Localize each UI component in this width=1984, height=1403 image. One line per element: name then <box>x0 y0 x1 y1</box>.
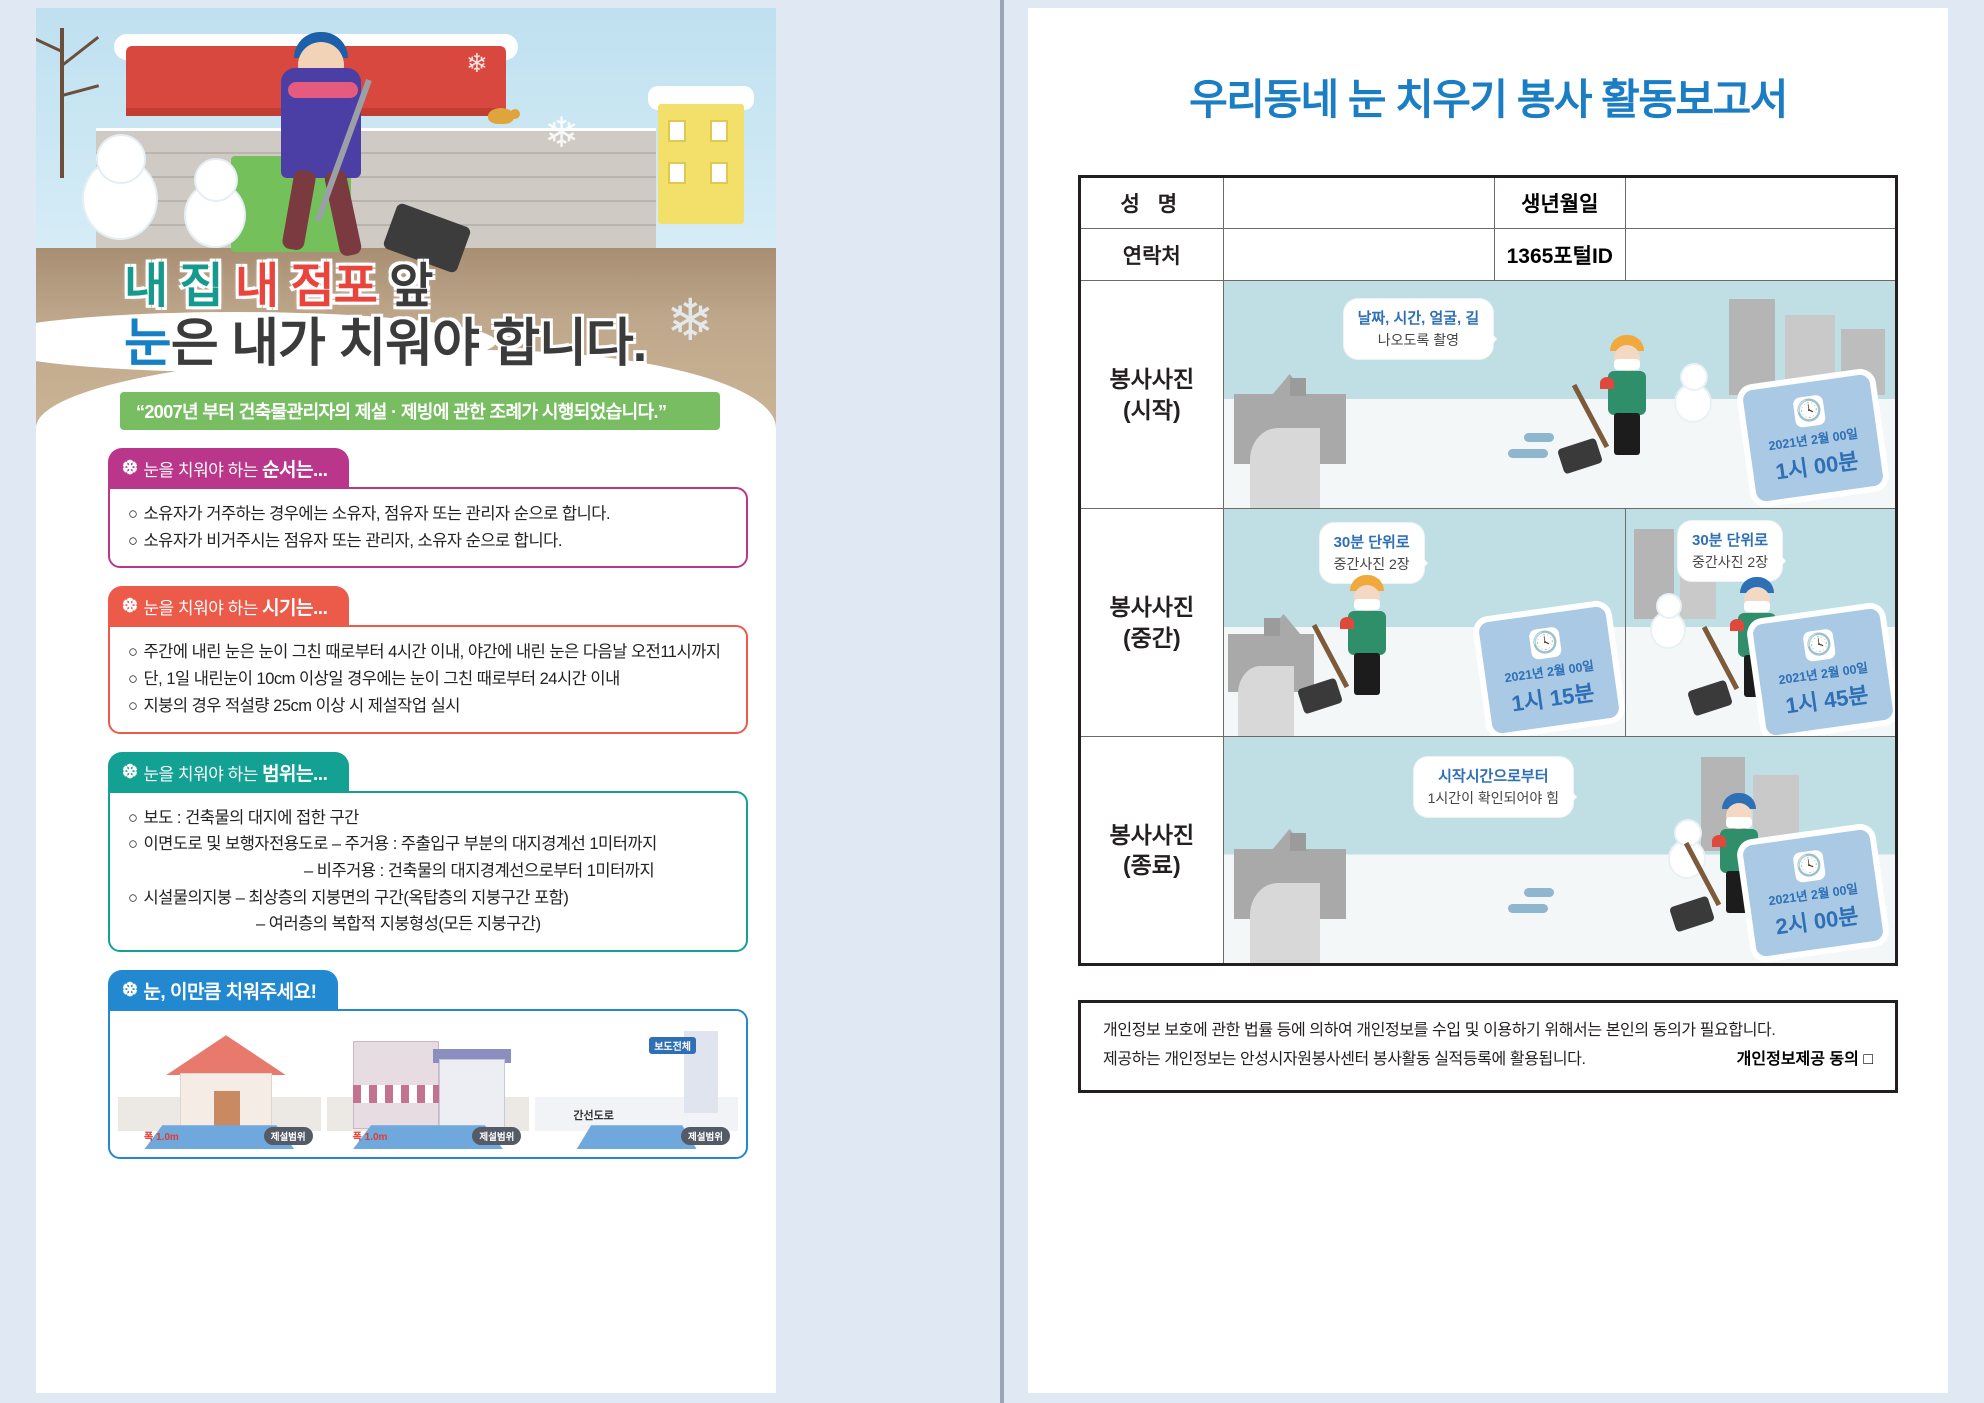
form-title: 우리동네 눈 치우기 봉사 활동보고서 <box>1028 66 1948 127</box>
timestamp-card-middle-1: 🕓 2021년 2월 00일 1시 15분 <box>1478 606 1620 735</box>
section-scope-head-bold: 범위는... <box>262 764 327 785</box>
snowflake-icon: ❆ <box>122 979 137 1002</box>
snowman-head-illustration <box>1658 595 1680 617</box>
snowman-illustration <box>1652 613 1684 647</box>
consent-line-2: 제공하는 개인정보는 안성시자원봉사센터 봉사활동 실적등록에 활용됩니다. <box>1103 1046 1586 1074</box>
snowflake-icon: ❆ <box>122 595 137 618</box>
section-order: ❆ 눈을 치워야 하는 순서는... ○소유자가 거주하는 경우에는 소유자, … <box>108 448 748 568</box>
clock-icon: 🕓 <box>1792 849 1826 883</box>
section-scope-header: ❆ 눈을 치워야 하는 범위는... <box>108 752 349 793</box>
section-scope-head-plain: 눈을 치워야 하는 <box>143 765 262 784</box>
width-label: 폭 1.0m <box>353 1128 388 1143</box>
section-scope-body: ○보도 : 건축물의 대지에 접한 구간 ○이면도로 및 보행자전용도로 – 주… <box>108 791 748 953</box>
label-contact: 연락처 <box>1080 229 1224 281</box>
document-spread: ❄ ❄ ❄ 내 집 내 점포 앞 눈은 내가 치워야 합니다. “2007년 부… <box>0 0 1984 1403</box>
sidewalk-label: 보도전체 <box>649 1037 696 1054</box>
photo-cell-middle-1[interactable]: 30분 단위로 중간사진 2장 🕓 2021년 2월 00일 1시 15분 <box>1223 509 1625 737</box>
photo-hint-bubble-start: 날짜, 시간, 얼굴, 길 나오도록 촬영 <box>1344 299 1494 359</box>
photo-hint-bubble-middle-2: 30분 단위로 중간사진 2장 <box>1678 521 1782 581</box>
section-timing-head-bold: 시기는... <box>262 598 327 619</box>
snowman-large-head-illustration <box>98 136 144 182</box>
scene-end: 시작시간으로부터 1시간이 확인되어야 힘 🕓 2021년 2월 0 <box>1224 737 1895 963</box>
clock-icon: 🕓 <box>1528 626 1562 660</box>
photo-cell-start[interactable]: 날짜, 시간, 얼굴, 길 나오도록 촬영 🕓 2021년 2월 0 <box>1223 281 1896 509</box>
section-howmuch-header: ❆ 눈, 이만큼 치워주세요! <box>108 970 338 1011</box>
title-part-front: 앞 <box>389 260 432 313</box>
snowman-illustration <box>1676 385 1710 421</box>
snowflake-decoration-icon: ❄ <box>544 108 579 157</box>
photo-cell-middle-2[interactable]: 30분 단위로 중간사진 2장 🕓 2021년 2월 00일 <box>1626 509 1897 737</box>
table-row-photo-end: 봉사사진 (종료) 시작시간으로부터 1시간이 확인되어야 <box>1080 737 1897 965</box>
scene-middle-2: 30분 단위로 중간사진 2장 🕓 2021년 2월 00일 <box>1626 509 1895 736</box>
page-gutter <box>1000 0 1004 1403</box>
consent-line-1: 개인정보 보호에 관한 법률 등에 의하여 개인정보를 수입 및 이용하기 위해… <box>1103 1017 1873 1045</box>
poster-title-line2: 눈은 내가 치워야 합니다. <box>124 315 776 375</box>
illustration-house: 폭 1.0m 제설범위 <box>118 1019 321 1149</box>
section-timing: ❆ 눈을 치워야 하는 시기는... ○주간에 내린 눈은 눈이 그친 때로부터… <box>108 586 748 733</box>
privacy-consent-box: 개인정보 보호에 관한 법률 등에 의하여 개인정보를 수입 및 이용하기 위해… <box>1078 1000 1898 1093</box>
timestamp-card-end: 🕓 2021년 2월 00일 2시 00분 <box>1742 829 1884 958</box>
report-form-page: 우리동네 눈 치우기 봉사 활동보고서 성 명 생년월일 연락처 1365포털I… <box>1028 8 1948 1393</box>
snowflake-icon: ❆ <box>122 457 137 480</box>
list-item: – 비주거용 : 건축물의 대지경계선으로부터 1미터까지 <box>128 858 732 885</box>
poster-page: ❄ ❄ ❄ 내 집 내 점포 앞 눈은 내가 치워야 합니다. “2007년 부… <box>36 8 776 1393</box>
poster-sections: ❆ 눈을 치워야 하는 순서는... ○소유자가 거주하는 경우에는 소유자, … <box>108 448 748 1177</box>
photo-hint-bubble-end: 시작시간으로부터 1시간이 확인되어야 힘 <box>1414 757 1574 817</box>
consent-agree-label: 개인정보제공 동의 <box>1737 1051 1859 1068</box>
list-item: ○지붕의 경우 적설량 25cm 이상 시 제설작업 실시 <box>128 693 732 720</box>
field-portal-id[interactable] <box>1626 229 1897 281</box>
section-howmuch-body: 폭 1.0m 제설범위 폭 1.0m 제설범위 <box>108 1009 748 1159</box>
list-item: ○시설물의지붕 – 최상층의 지붕면의 구간(옥탑층의 지붕구간 포함) <box>128 885 732 912</box>
list-item: ○이면도로 및 보행자전용도로 – 주거용 : 주출입구 부분의 대지경계선 1… <box>128 831 732 858</box>
poster-title-line1: 내 집 내 점포 앞 <box>124 263 776 311</box>
section-order-head-plain: 눈을 치워야 하는 <box>143 461 262 480</box>
illustration-street: 간선도로 보도전체 제설범위 <box>535 1019 738 1149</box>
section-order-header: ❆ 눈을 치워야 하는 순서는... <box>108 448 349 489</box>
list-item: – 여러층의 복합적 지붕형성(모든 지붕구간) <box>128 911 732 938</box>
list-item: ○소유자가 거주하는 경우에는 소유자, 점유자 또는 관리자 순으로 합니다. <box>128 501 732 528</box>
arterial-road-label: 간선도로 <box>573 1107 613 1123</box>
snowflake-icon: ❆ <box>122 761 137 784</box>
table-row-photo-middle: 봉사사진 (중간) 30분 단위로 중간사진 2장 <box>1080 509 1897 737</box>
table-row-contact: 연락처 1365포털ID <box>1080 229 1897 281</box>
field-name[interactable] <box>1223 177 1494 229</box>
snowflake-decoration-icon: ❄ <box>466 48 488 79</box>
label-birthdate: 생년월일 <box>1494 177 1625 229</box>
title-part-myshop: 내 점포 <box>235 260 377 313</box>
list-item: ○단, 1일 내린눈이 10cm 이상일 경우에는 눈이 그친 때로부터 24시… <box>128 666 732 693</box>
list-item: ○주간에 내린 눈은 눈이 그친 때로부터 4시간 이내, 야간에 내린 눈은 … <box>128 639 732 666</box>
title-part-snow: 눈 <box>124 315 171 373</box>
photo-cell-end[interactable]: 시작시간으로부터 1시간이 확인되어야 힘 🕓 2021년 2월 0 <box>1223 737 1896 965</box>
table-row-name: 성 명 생년월일 <box>1080 177 1897 229</box>
table-row-photo-start: 봉사사진 (시작) 날짜, 시간, 얼굴, 길 <box>1080 281 1897 509</box>
yellow-house-illustration <box>658 104 744 224</box>
section-howmuch: ❆ 눈, 이만큼 치워주세요! 폭 1.0m 제설범위 <box>108 970 748 1159</box>
snow-clearing-illustrations: 폭 1.0m 제설범위 폭 1.0m 제설범위 <box>118 1019 738 1149</box>
consent-checkbox[interactable]: □ <box>1863 1051 1873 1068</box>
list-item: ○소유자가 비거주시는 점유자 또는 관리자, 소유자 순으로 합니다. <box>128 528 732 555</box>
photo-hint-bubble-middle-1: 30분 단위로 중간사진 2장 <box>1320 523 1424 583</box>
list-item: ○보도 : 건축물의 대지에 접한 구간 <box>128 805 732 832</box>
consent-agree-row[interactable]: 개인정보제공 동의 □ <box>1737 1045 1873 1069</box>
section-howmuch-head-bold: 눈, 이만큼 치워주세요! <box>143 977 316 1004</box>
section-order-body: ○소유자가 거주하는 경우에는 소유자, 점유자 또는 관리자 순으로 합니다.… <box>108 487 748 568</box>
bird-illustration <box>488 108 514 124</box>
label-photo-middle: 봉사사진 (중간) <box>1080 509 1224 737</box>
section-scope: ❆ 눈을 치워야 하는 범위는... ○보도 : 건축물의 대지에 접한 구간 … <box>108 752 748 953</box>
scene-middle-1: 30분 단위로 중간사진 2장 🕓 2021년 2월 00일 1시 15분 <box>1224 509 1625 736</box>
section-timing-head-plain: 눈을 치워야 하는 <box>143 599 262 618</box>
snowman-head-illustration <box>1682 365 1706 389</box>
timestamp-card-middle-2: 🕓 2021년 2월 00일 1시 45분 <box>1752 608 1894 736</box>
section-timing-header: ❆ 눈을 치워야 하는 시기는... <box>108 586 349 627</box>
zone-label: 제설범위 <box>681 1127 730 1145</box>
label-name: 성 명 <box>1080 177 1224 229</box>
section-order-head-bold: 순서는... <box>262 460 327 481</box>
zone-label: 제설범위 <box>264 1127 313 1145</box>
poster-title-block: 내 집 내 점포 앞 눈은 내가 치워야 합니다. <box>36 263 776 375</box>
zone-label: 제설범위 <box>472 1127 521 1145</box>
illustration-shop: 폭 1.0m 제설범위 <box>327 1019 530 1149</box>
person-scarf-illustration <box>288 82 358 98</box>
label-photo-start: 봉사사진 (시작) <box>1080 281 1224 509</box>
label-photo-end: 봉사사진 (종료) <box>1080 737 1224 965</box>
title-part-myhouse: 내 집 <box>124 260 223 313</box>
field-contact[interactable] <box>1223 229 1494 281</box>
clock-icon: 🕓 <box>1792 394 1826 428</box>
ordinance-quote-banner: “2007년 부터 건축물관리자의 제설 · 제빙에 관한 조례가 시행되었습니… <box>120 392 720 430</box>
field-birthdate[interactable] <box>1626 177 1897 229</box>
volunteer-report-table: 성 명 생년월일 연락처 1365포털ID 봉사사진 (시작) <box>1078 175 1898 966</box>
section-timing-body: ○주간에 내린 눈은 눈이 그친 때로부터 4시간 이내, 야간에 내린 눈은 … <box>108 625 748 733</box>
clock-icon: 🕓 <box>1802 628 1836 662</box>
scene-start: 날짜, 시간, 얼굴, 길 나오도록 촬영 🕓 2021년 2월 0 <box>1224 281 1895 508</box>
width-label: 폭 1.0m <box>144 1128 179 1143</box>
snowman-small-head-illustration <box>196 160 236 200</box>
label-portal-id: 1365포털ID <box>1494 229 1625 281</box>
title-part-rest: 은 내가 치워야 합니다. <box>171 315 646 373</box>
timestamp-card-start: 🕓 2021년 2월 00일 1시 00분 <box>1742 374 1884 503</box>
